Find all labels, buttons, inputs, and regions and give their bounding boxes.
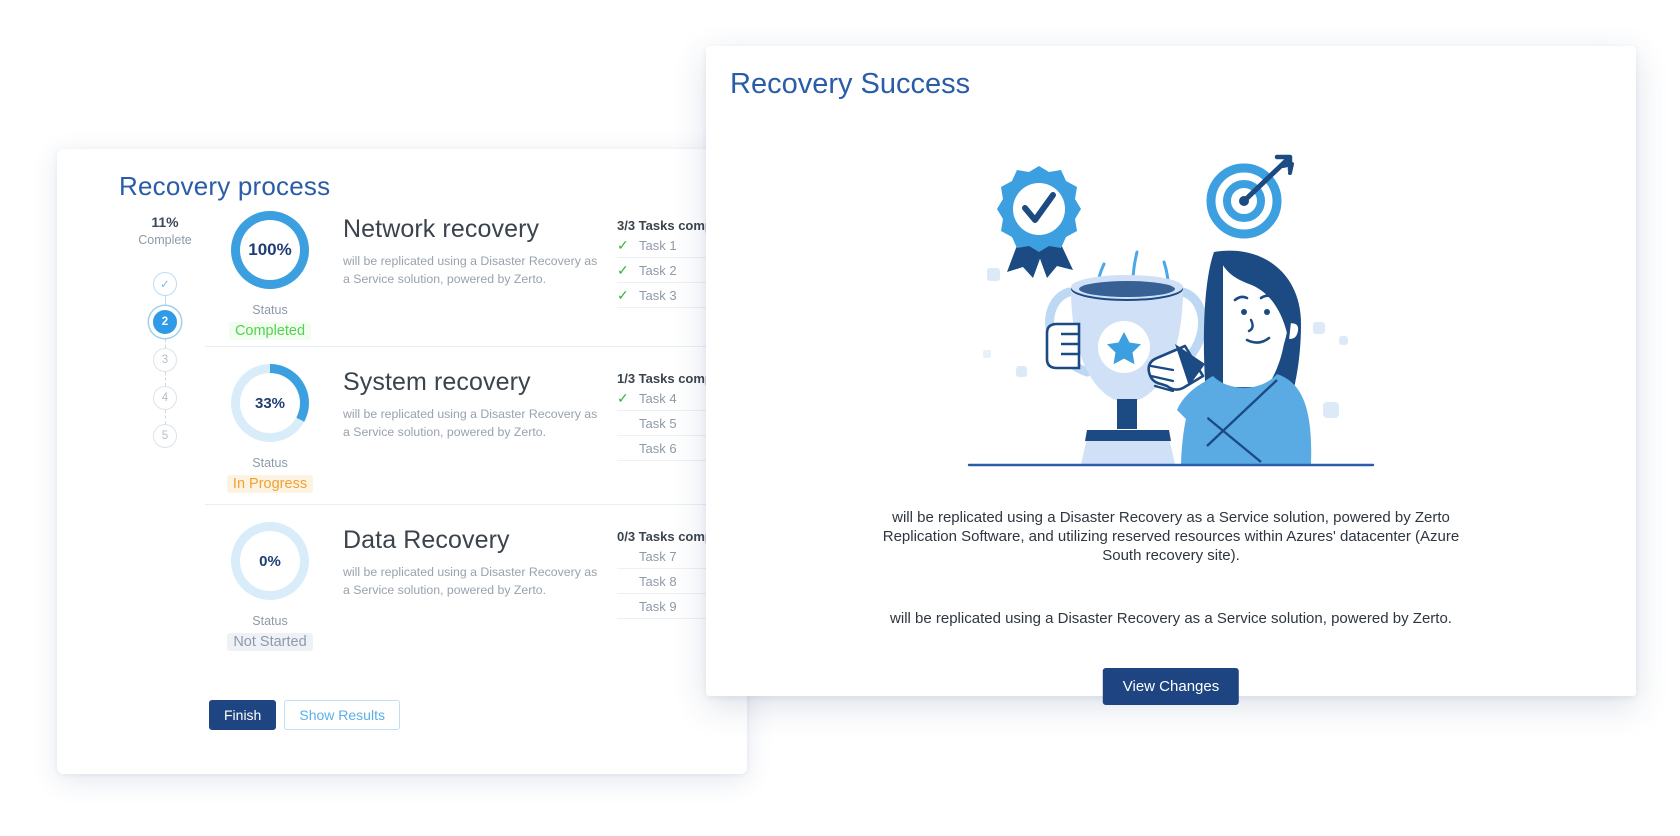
recovery-row: 100%StatusCompletedNetwork recoverywill …	[205, 211, 747, 361]
stepper-connector	[165, 296, 166, 310]
task-label: Task 2	[639, 263, 677, 278]
recovery-row: 0%StatusNot StartedData Recoverywill be …	[205, 522, 747, 677]
task-label: Task 5	[639, 416, 677, 431]
check-icon: ✓	[617, 263, 639, 277]
task-label: Task 4	[639, 391, 677, 406]
task-label: Task 9	[639, 599, 677, 614]
stepper-connector	[165, 334, 166, 348]
stepper-step-5[interactable]: 5	[153, 424, 177, 448]
check-icon: ✓	[617, 238, 639, 252]
recovery-success-modal: Recovery Success	[706, 46, 1636, 696]
check-icon: ✓	[617, 288, 639, 302]
task-check-placeholder-icon: ✓	[617, 441, 639, 455]
task-check-placeholder-icon: ✓	[617, 416, 639, 430]
row-divider	[205, 504, 747, 505]
check-icon: ✓	[617, 391, 639, 405]
progress-stepper: 11% Complete ✓2345	[125, 214, 205, 448]
modal-title: Recovery Success	[730, 68, 970, 101]
progress-ring: 0%	[231, 522, 309, 600]
page-title: Recovery process	[119, 171, 330, 202]
recovery-row-text: System recoverywill be replicated using …	[343, 368, 603, 442]
recovery-row-title: System recovery	[343, 368, 603, 397]
recovery-row-text: Network recoverywill be replicated using…	[343, 215, 603, 289]
stepper-connector	[165, 372, 166, 386]
recovery-row-description: will be replicated using a Disaster Reco…	[343, 253, 603, 289]
overall-percent-label: Complete	[125, 233, 205, 247]
progress-ring-value: 0%	[240, 531, 300, 591]
modal-action-area: View Changes	[1103, 668, 1239, 705]
stepper-step-4[interactable]: 4	[153, 386, 177, 410]
stepper-step-1[interactable]: ✓	[153, 272, 177, 296]
status-label: Status	[205, 614, 335, 628]
overall-percent: 11%	[125, 214, 205, 230]
modal-paragraph-1: will be replicated using a Disaster Reco…	[871, 508, 1471, 566]
task-label: Task 7	[639, 549, 677, 564]
task-check-placeholder-icon: ✓	[617, 574, 639, 588]
view-changes-button[interactable]: View Changes	[1103, 668, 1239, 705]
award-badge-icon	[997, 166, 1081, 278]
stepper-list: ✓2345	[125, 272, 205, 448]
progress-ring-wrap: 33%StatusIn Progress	[205, 364, 335, 493]
progress-ring: 33%	[231, 364, 309, 442]
progress-ring-wrap: 100%StatusCompleted	[205, 211, 335, 340]
recovery-row-text: Data Recoverywill be replicated using a …	[343, 526, 603, 600]
stepper-step-3[interactable]: 3	[153, 348, 177, 372]
status-label: Status	[205, 456, 335, 470]
target-arrow-icon	[1211, 157, 1292, 234]
trophy-celebration-illustration	[961, 144, 1381, 479]
finish-button[interactable]: Finish	[209, 700, 276, 730]
recovery-row-description: will be replicated using a Disaster Reco…	[343, 406, 603, 442]
row-divider	[205, 346, 747, 347]
screen: Recovery process 11% Complete ✓2345 100%…	[0, 0, 1680, 836]
task-label: Task 6	[639, 441, 677, 456]
status-label: Status	[205, 303, 335, 317]
progress-ring-wrap: 0%StatusNot Started	[205, 522, 335, 651]
recovery-row-title: Network recovery	[343, 215, 603, 244]
status-badge: Completed	[229, 322, 311, 340]
card-action-buttons: Finish Show Results	[209, 700, 400, 730]
recovery-row-title: Data Recovery	[343, 526, 603, 555]
task-check-placeholder-icon: ✓	[617, 599, 639, 613]
modal-description: will be replicated using a Disaster Reco…	[871, 508, 1471, 628]
status-badge: In Progress	[227, 475, 313, 493]
task-check-placeholder-icon: ✓	[617, 549, 639, 563]
progress-ring-value: 100%	[240, 220, 300, 280]
progress-ring-value: 33%	[240, 373, 300, 433]
task-label: Task 3	[639, 288, 677, 303]
status-badge: Not Started	[227, 633, 312, 651]
recovery-process-card: Recovery process 11% Complete ✓2345 100%…	[57, 149, 747, 774]
recovery-row-description: will be replicated using a Disaster Reco…	[343, 564, 603, 600]
task-label: Task 8	[639, 574, 677, 589]
progress-ring: 100%	[231, 211, 309, 289]
show-results-button[interactable]: Show Results	[284, 700, 400, 730]
stepper-step-2[interactable]: 2	[153, 310, 177, 334]
task-label: Task 1	[639, 238, 677, 253]
modal-paragraph-2: will be replicated using a Disaster Reco…	[871, 609, 1471, 628]
stepper-connector	[165, 410, 166, 424]
recovery-row: 33%StatusIn ProgressSystem recoverywill …	[205, 364, 747, 519]
